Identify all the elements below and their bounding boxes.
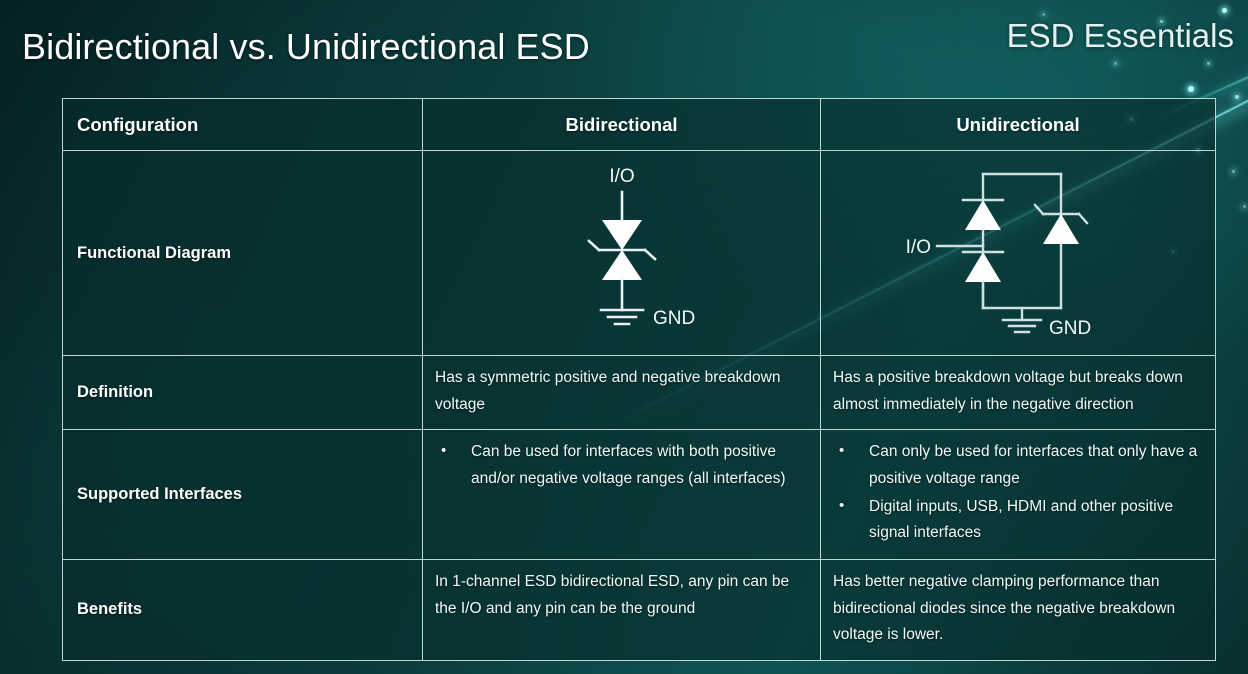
column-header-unidirectional: Unidirectional bbox=[821, 99, 1216, 151]
table-header: Configuration Bidirectional Unidirection… bbox=[63, 99, 1216, 151]
row-label-benefits: Benefits bbox=[63, 559, 423, 660]
row-label-supported-interfaces: Supported Interfaces bbox=[63, 430, 423, 560]
bidirectional-gnd-label: GND bbox=[653, 308, 695, 329]
comparison-table: Configuration Bidirectional Unidirection… bbox=[62, 98, 1216, 661]
bullet-list-bidirectional-interfaces: Can be used for interfaces with both pos… bbox=[435, 439, 806, 492]
series-brand-label: ESD Essentials bbox=[1007, 17, 1234, 55]
table-body: Functional Diagram bbox=[63, 151, 1216, 661]
cell-bidirectional-definition: Has a symmetric positive and negative br… bbox=[423, 356, 821, 430]
table-row: Supported Interfaces Can be used for int… bbox=[63, 430, 1216, 560]
particle-dot bbox=[1188, 86, 1194, 92]
column-header-configuration: Configuration bbox=[63, 99, 423, 151]
row-label-definition: Definition bbox=[63, 356, 423, 430]
cell-bidirectional-interfaces: Can be used for interfaces with both pos… bbox=[423, 430, 821, 560]
bidirectional-esd-diode-schematic: I/O GND bbox=[527, 158, 717, 348]
list-item: Can be used for interfaces with both pos… bbox=[435, 439, 806, 492]
unidirectional-esd-diode-schematic: I/O GND bbox=[893, 158, 1143, 348]
table-row: Benefits In 1-channel ESD bidirectional … bbox=[63, 559, 1216, 660]
particle-dot bbox=[1243, 205, 1246, 208]
list-item: Digital inputs, USB, HDMI and other posi… bbox=[833, 494, 1201, 547]
column-header-bidirectional: Bidirectional bbox=[423, 99, 821, 151]
particle-dot bbox=[1232, 170, 1235, 173]
table-row: Definition Has a symmetric positive and … bbox=[63, 356, 1216, 430]
unidirectional-gnd-label: GND bbox=[1049, 318, 1091, 339]
list-item: Can only be used for interfaces that onl… bbox=[833, 439, 1201, 492]
bidirectional-io-label: I/O bbox=[609, 166, 634, 187]
cell-unidirectional-benefits: Has better negative clamping performance… bbox=[821, 559, 1216, 660]
particle-dot bbox=[1235, 95, 1239, 99]
page-title: Bidirectional vs. Unidirectional ESD bbox=[22, 26, 590, 68]
cell-unidirectional-definition: Has a positive breakdown voltage but bre… bbox=[821, 356, 1216, 430]
slide-header: Bidirectional vs. Unidirectional ESD ESD… bbox=[0, 0, 1248, 86]
bullet-list-unidirectional-interfaces: Can only be used for interfaces that onl… bbox=[833, 439, 1201, 547]
cell-bidirectional-diagram: I/O GND bbox=[423, 151, 821, 356]
table-row: Functional Diagram bbox=[63, 151, 1216, 356]
row-label-functional-diagram: Functional Diagram bbox=[63, 151, 423, 356]
unidirectional-io-label: I/O bbox=[906, 237, 931, 258]
cell-unidirectional-interfaces: Can only be used for interfaces that onl… bbox=[821, 430, 1216, 560]
table-header-row: Configuration Bidirectional Unidirection… bbox=[63, 99, 1216, 151]
cell-bidirectional-benefits: In 1-channel ESD bidirectional ESD, any … bbox=[423, 559, 821, 660]
cell-unidirectional-diagram: I/O GND bbox=[821, 151, 1216, 356]
